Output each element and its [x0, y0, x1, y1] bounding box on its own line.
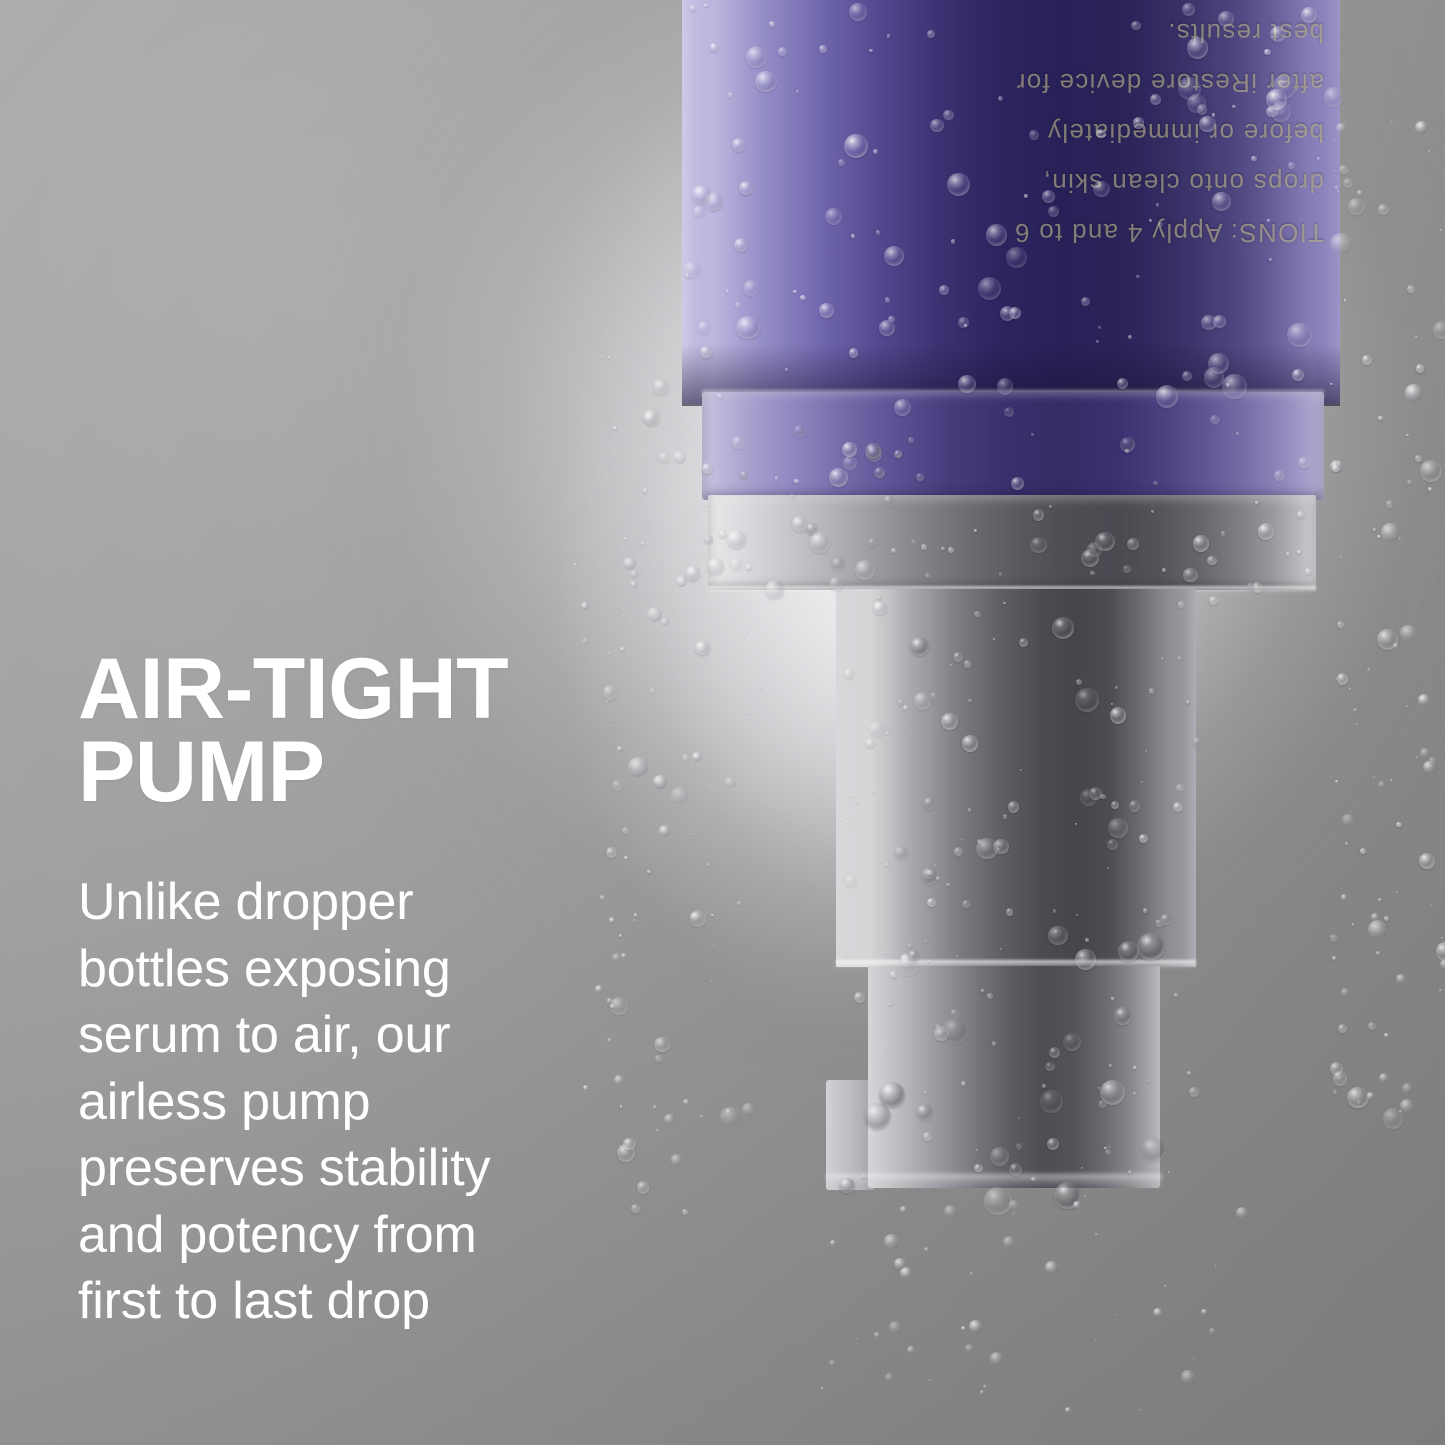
- water-droplet: [1406, 434, 1409, 437]
- water-droplet: [1301, 7, 1317, 23]
- water-droplet: [664, 1114, 675, 1125]
- water-droplet: [1182, 3, 1195, 16]
- water-droplet: [1111, 801, 1119, 809]
- water-droplet: [1155, 919, 1164, 928]
- water-droplet: [877, 986, 879, 988]
- water-droplet: [838, 159, 845, 166]
- water-droplet: [653, 775, 667, 789]
- water-droplet: [962, 735, 978, 751]
- water-droplet: [894, 846, 908, 860]
- water-droplet: [1004, 407, 1014, 417]
- water-droplet: [947, 173, 970, 196]
- water-droplet: [707, 558, 724, 575]
- water-droplet: [1399, 537, 1402, 540]
- water-droplet: [844, 669, 854, 679]
- water-droplet: [894, 450, 902, 458]
- water-droplet: [1400, 625, 1417, 642]
- water-droplet: [1199, 116, 1216, 133]
- water-droplet: [582, 638, 588, 644]
- water-droplet: [755, 71, 777, 93]
- water-droplet: [1367, 668, 1371, 672]
- water-droplet: [1255, 501, 1258, 504]
- water-droplet: [630, 570, 638, 578]
- water-droplet: [1341, 988, 1349, 996]
- water-droplet: [831, 557, 845, 571]
- water-droplet: [1393, 643, 1399, 649]
- water-droplet: [1286, 552, 1290, 556]
- water-droplet: [854, 992, 865, 1003]
- water-droplet: [924, 1091, 927, 1094]
- water-droplet: [1391, 121, 1393, 123]
- water-droplet: [829, 1360, 836, 1367]
- water-droplet: [927, 870, 932, 875]
- water-droplet: [986, 224, 1007, 245]
- water-droplet: [683, 1099, 689, 1105]
- metal-collar: [708, 495, 1316, 590]
- water-droplet: [1030, 537, 1046, 553]
- water-droplet: [1136, 275, 1140, 279]
- water-droplet: [884, 246, 904, 266]
- water-droplet: [1075, 949, 1096, 970]
- water-droplet: [720, 1107, 739, 1126]
- water-droplet: [682, 754, 690, 762]
- water-droplet: [793, 290, 796, 293]
- water-droplet: [698, 321, 710, 333]
- water-droplet: [765, 580, 784, 599]
- water-droplet: [1334, 140, 1336, 142]
- water-droplet: [1213, 315, 1226, 328]
- water-droplet: [1376, 951, 1380, 955]
- water-droplet: [711, 914, 714, 917]
- water-droplet: [1111, 703, 1113, 705]
- water-droplet: [1011, 477, 1024, 490]
- water-droplet: [1360, 848, 1366, 854]
- water-droplet: [638, 521, 640, 523]
- water-droplet: [961, 1081, 966, 1086]
- water-droplet: [737, 901, 741, 905]
- water-droplet: [1212, 113, 1215, 116]
- water-droplet: [744, 631, 747, 634]
- water-droplet: [1333, 1090, 1337, 1094]
- water-droplet: [667, 531, 669, 533]
- water-droplet: [1053, 909, 1056, 912]
- water-droplet: [998, 96, 1003, 101]
- water-droplet: [1000, 948, 1002, 950]
- water-droplet: [704, 536, 712, 544]
- water-droplet: [1164, 1285, 1166, 1287]
- water-droplet: [934, 864, 936, 866]
- water-droplet: [907, 943, 913, 949]
- water-droplet: [1341, 894, 1348, 901]
- water-droplet: [884, 1234, 898, 1248]
- water-droplet: [1108, 818, 1128, 838]
- water-droplet: [1377, 535, 1380, 538]
- water-droplet: [1405, 384, 1422, 401]
- water-droplet: [879, 1082, 906, 1109]
- water-droplet: [1330, 934, 1337, 941]
- water-droplet: [914, 692, 931, 709]
- water-droplet: [1357, 190, 1363, 196]
- water-droplet: [1428, 487, 1432, 491]
- water-droplet: [886, 863, 888, 865]
- water-droplet: [1133, 117, 1144, 128]
- water-droplet: [819, 45, 827, 53]
- water-droplet: [643, 488, 648, 493]
- water-droplet: [873, 149, 878, 154]
- water-droplet: [1348, 198, 1365, 215]
- water-droplet: [728, 92, 734, 98]
- water-droplet: [829, 577, 842, 590]
- water-droplet: [843, 456, 857, 470]
- water-droplet: [1006, 908, 1013, 915]
- water-droplet: [980, 1390, 984, 1394]
- water-droplet: [974, 1164, 982, 1172]
- water-droplet: [692, 185, 711, 204]
- water-droplet: [659, 452, 670, 463]
- water-droplet: [1384, 1033, 1389, 1038]
- water-droplet: [1210, 415, 1219, 424]
- water-droplet: [1396, 822, 1401, 827]
- water-droplet: [1431, 904, 1433, 906]
- water-droplet: [1031, 433, 1034, 436]
- water-droplet: [1378, 898, 1382, 902]
- water-droplet: [1373, 776, 1376, 779]
- product-feature-image: TIONS: Apply 4 and to 6 drops onto clean…: [0, 0, 1445, 1445]
- water-droplet: [916, 473, 924, 481]
- water-droplet: [825, 208, 842, 225]
- water-droplet: [868, 538, 877, 547]
- water-droplet: [885, 1373, 894, 1382]
- water-droplet: [1337, 673, 1349, 685]
- water-droplet: [884, 951, 886, 953]
- water-droplet: [700, 1115, 703, 1118]
- water-droplet: [941, 547, 944, 550]
- water-droplet: [1270, 26, 1286, 42]
- water-droplet: [1153, 481, 1157, 485]
- serum-bottle: [676, 0, 1340, 1207]
- water-droplet: [1193, 1358, 1195, 1360]
- water-droplet: [1271, 101, 1291, 121]
- water-droplet: [921, 544, 926, 549]
- water-droplet: [876, 230, 880, 234]
- water-droplet: [693, 206, 705, 218]
- water-droplet: [968, 699, 971, 702]
- water-droplet: [942, 1018, 968, 1044]
- water-droplet: [692, 752, 702, 762]
- water-droplet: [785, 368, 788, 371]
- water-droplet: [1176, 784, 1184, 792]
- water-droplet: [1003, 814, 1007, 818]
- water-droplet: [1337, 190, 1339, 192]
- water-droplet: [1420, 460, 1442, 482]
- water-droplet: [661, 618, 669, 626]
- water-droplet: [796, 90, 799, 93]
- water-droplet: [574, 563, 577, 566]
- water-droplet: [1049, 505, 1052, 508]
- water-droplet: [1075, 688, 1099, 712]
- water-droplet: [1349, 688, 1351, 690]
- page-title: AIR-TIGHT PUMP: [78, 648, 638, 813]
- water-droplet: [983, 1385, 986, 1388]
- water-droplet: [686, 566, 701, 581]
- water-droplet: [1381, 523, 1400, 542]
- water-droplet: [1178, 601, 1184, 607]
- water-droplet: [923, 797, 936, 810]
- water-droplet: [1236, 432, 1239, 435]
- water-droplet: [1107, 867, 1109, 869]
- water-droplet: [655, 1055, 662, 1062]
- water-droplet: [1396, 891, 1398, 893]
- water-droplet: [695, 641, 710, 656]
- water-droplet: [1187, 1071, 1191, 1075]
- water-droplet: [1045, 1261, 1058, 1274]
- water-droplet: [1019, 638, 1028, 647]
- water-droplet: [1006, 247, 1027, 268]
- water-droplet: [1081, 549, 1099, 567]
- water-droplet: [962, 900, 971, 909]
- water-droplet: [951, 239, 955, 243]
- water-droplet: [1090, 571, 1094, 575]
- water-droplet: [775, 476, 778, 479]
- water-droplet: [999, 572, 1002, 575]
- water-droplet: [1117, 378, 1128, 389]
- water-droplet: [1109, 1064, 1111, 1066]
- water-droplet: [643, 409, 660, 426]
- water-droplet: [990, 1352, 1002, 1364]
- water-droplet: [1118, 941, 1138, 961]
- water-droplet: [869, 49, 872, 52]
- water-droplet: [849, 348, 859, 358]
- water-droplet: [742, 1103, 755, 1116]
- water-droplet: [993, 839, 1008, 854]
- water-droplet: [1114, 1007, 1132, 1025]
- water-droplet: [1153, 1308, 1162, 1317]
- water-droplet: [873, 601, 887, 615]
- water-droplet: [1173, 802, 1183, 812]
- water-droplet: [1362, 355, 1372, 365]
- water-droplet: [1189, 1087, 1199, 1097]
- water-droplet: [1181, 1370, 1195, 1384]
- water-droplet: [1150, 94, 1161, 105]
- body-paragraph: Unlike dropper bottles exposing serum to…: [78, 869, 638, 1335]
- water-droplet: [1108, 1146, 1110, 1148]
- water-droplet: [1193, 737, 1204, 748]
- water-droplet: [877, 596, 881, 600]
- water-droplet: [943, 110, 953, 120]
- water-droplet: [968, 808, 971, 811]
- water-droplet: [889, 1003, 892, 1006]
- water-droplet: [702, 463, 713, 474]
- water-droplet: [829, 468, 848, 487]
- water-droplet: [961, 839, 963, 841]
- water-droplet: [1288, 162, 1295, 169]
- water-droplet: [1336, 678, 1338, 680]
- pump-nozzle-edge: [826, 1174, 1162, 1188]
- water-droplet: [879, 320, 894, 335]
- water-droplet: [1115, 686, 1118, 689]
- water-droplet: [874, 1332, 880, 1338]
- water-droplet: [1353, 708, 1357, 712]
- water-droplet: [1386, 500, 1394, 508]
- water-droplet: [1110, 707, 1127, 724]
- water-droplet: [769, 21, 775, 27]
- water-droplet: [894, 399, 911, 416]
- water-droplet: [727, 530, 746, 549]
- water-droplet: [900, 953, 913, 966]
- water-droplet: [608, 356, 611, 359]
- water-droplet: [990, 1147, 1009, 1166]
- water-droplet: [1406, 705, 1408, 707]
- water-droplet: [1129, 800, 1141, 812]
- water-droplet: [1415, 336, 1417, 338]
- water-droplet: [732, 436, 745, 449]
- water-droplet: [623, 615, 625, 617]
- water-droplet: [1182, 371, 1192, 381]
- feature-copy-block: AIR-TIGHT PUMP Unlike dropper bottles ex…: [78, 648, 638, 1335]
- water-droplet: [685, 273, 690, 278]
- water-droplet: [723, 601, 725, 603]
- water-droplet: [1049, 1047, 1060, 1058]
- water-droplet: [1212, 192, 1230, 210]
- water-droplet: [1029, 130, 1039, 140]
- water-droplet: [839, 1178, 854, 1193]
- water-droplet: [1183, 568, 1198, 583]
- water-droplet: [1378, 204, 1389, 215]
- water-droplet: [1186, 700, 1190, 704]
- water-droplet: [624, 537, 627, 540]
- water-droplet: [974, 611, 980, 617]
- water-droplet: [866, 446, 882, 462]
- water-droplet: [710, 581, 712, 583]
- water-droplet: [1251, 156, 1256, 161]
- water-droplet: [1042, 1084, 1046, 1088]
- water-droplet: [1232, 105, 1235, 108]
- water-droplet: [1428, 150, 1431, 153]
- water-droplet: [910, 637, 929, 656]
- water-droplet: [965, 1344, 974, 1353]
- water-droplet: [778, 47, 787, 56]
- water-droplet: [1131, 21, 1140, 30]
- water-droplet: [746, 46, 767, 67]
- water-droplet: [1093, 181, 1110, 198]
- water-droplet: [1209, 1328, 1215, 1334]
- water-droplet: [1415, 121, 1428, 134]
- water-droplet: [758, 687, 760, 689]
- water-droplet: [1151, 510, 1154, 513]
- water-droplet: [846, 821, 848, 823]
- water-droplet: [1330, 233, 1352, 255]
- water-droplet: [1040, 1090, 1064, 1114]
- water-droplet: [939, 285, 949, 295]
- water-droplet: [1161, 657, 1164, 660]
- water-droplet: [1045, 1062, 1055, 1072]
- water-droplet: [1336, 123, 1347, 134]
- water-droplet: [1201, 1309, 1207, 1315]
- water-droplet: [958, 375, 976, 393]
- water-droplet: [819, 303, 834, 318]
- water-droplet: [1396, 974, 1406, 984]
- water-droplet: [1221, 531, 1225, 535]
- water-droplet: [1342, 814, 1354, 826]
- water-droplet: [1378, 416, 1383, 421]
- water-droplet: [889, 1321, 901, 1333]
- water-droplet: [961, 1326, 966, 1331]
- water-droplet: [1335, 780, 1339, 784]
- water-droplet: [1347, 1087, 1368, 1108]
- water-droplet: [1415, 455, 1422, 462]
- water-droplet: [1197, 104, 1208, 115]
- water-droplet: [732, 138, 746, 152]
- water-droplet: [1187, 37, 1208, 58]
- water-droplet: [1367, 1092, 1374, 1099]
- water-droplet: [1063, 1033, 1081, 1051]
- water-droplet: [897, 699, 904, 706]
- water-droplet: [1264, 49, 1270, 55]
- water-droplet: [1177, 656, 1182, 661]
- water-droplet: [654, 1037, 670, 1053]
- water-droplet: [810, 532, 830, 552]
- water-droplet: [1287, 323, 1311, 347]
- water-droplet: [1003, 602, 1006, 605]
- water-droplet: [1218, 11, 1234, 27]
- water-droplet: [647, 870, 650, 873]
- water-droplet: [724, 777, 736, 789]
- water-droplet: [1047, 1138, 1059, 1150]
- water-droplet: [1407, 285, 1414, 292]
- water-droplet: [862, 1174, 867, 1179]
- water-droplet: [976, 1149, 978, 1151]
- water-droplet: [1226, 383, 1230, 387]
- water-droplet: [1048, 206, 1059, 217]
- water-droplet: [800, 295, 806, 301]
- water-droplet: [842, 442, 857, 457]
- water-droplet: [726, 289, 729, 292]
- water-droplet: [653, 379, 669, 395]
- water-droplet: [1440, 229, 1442, 231]
- water-droplet: [1149, 688, 1154, 693]
- water-droplet: [1378, 781, 1386, 789]
- water-droplet: [916, 1104, 933, 1121]
- water-droplet: [705, 503, 708, 506]
- water-droplet: [707, 863, 709, 865]
- water-droplet: [997, 378, 1014, 395]
- water-droplet: [653, 1105, 658, 1110]
- water-droplet: [1352, 923, 1354, 925]
- water-droplet: [891, 548, 896, 553]
- water-droplet: [984, 1187, 1012, 1215]
- water-droplet: [1345, 842, 1348, 845]
- water-droplet: [719, 530, 726, 537]
- water-droplet: [1335, 186, 1337, 188]
- water-droplet: [1096, 129, 1106, 139]
- water-droplet: [793, 425, 806, 438]
- water-droplet: [1137, 933, 1164, 960]
- pump-nozzle-tip: [868, 966, 1160, 1188]
- water-droplet: [908, 437, 914, 443]
- water-droplet: [851, 234, 855, 238]
- water-droplet: [1008, 801, 1020, 813]
- water-droplet: [717, 393, 723, 399]
- water-droplet: [928, 960, 930, 962]
- water-droplet: [1416, 364, 1424, 372]
- water-droplet: [1128, 335, 1132, 339]
- water-droplet: [1085, 938, 1089, 942]
- water-droplet: [894, 1258, 906, 1270]
- water-droplet: [1104, 1147, 1106, 1149]
